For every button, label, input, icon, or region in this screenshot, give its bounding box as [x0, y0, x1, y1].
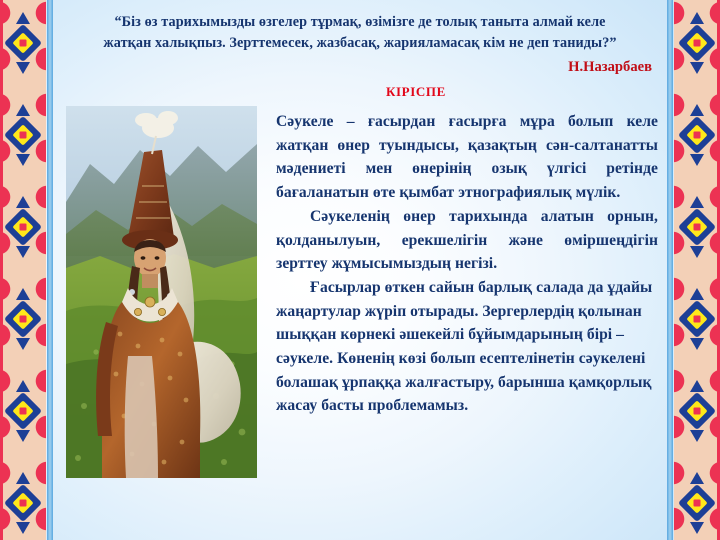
band-separator-stripe-right [667, 0, 673, 540]
presentation-slide: “Біз өз тарихымызды өзгелер тұрмақ, өзім… [0, 0, 720, 540]
ornament-diamond-icon [678, 10, 716, 76]
ornament-band-left [0, 0, 46, 540]
epigraph-quote: “Біз өз тарихымызды өзгелер тұрмақ, өзім… [62, 12, 658, 76]
ornament-diamond-motifs [0, 0, 46, 540]
quote-line-2: жатқан халықпыз. Зерттемесек, жазбасақ, … [62, 33, 658, 54]
ornament-diamond-motifs [674, 0, 720, 540]
slide-content: “Біз өз тарихымызды өзгелер тұрмақ, өзім… [56, 0, 664, 540]
ornament-diamond-icon [4, 102, 42, 168]
saukele-photo [66, 106, 257, 478]
body-paragraph: Сәукеленің өнер тарихында алатын орнын, … [276, 205, 658, 276]
ornament-diamond-icon [678, 286, 716, 352]
ornament-diamond-icon [4, 378, 42, 444]
band-separator-stripe-left [47, 0, 53, 540]
ornament-diamond-icon [4, 286, 42, 352]
ornament-diamond-icon [4, 194, 42, 260]
ornament-diamond-icon [678, 102, 716, 168]
section-heading: КІРІСПЕ [386, 84, 446, 100]
body-text-column: Сәукеле – ғасырдан ғасырға мұра болып ке… [276, 110, 658, 418]
ornament-diamond-icon [4, 470, 42, 536]
ornament-diamond-icon [678, 194, 716, 260]
body-paragraph: Ғасырлар өткен сайын барлық салада да ұд… [276, 276, 658, 418]
quote-line-1: “Біз өз тарихымызды өзгелер тұрмақ, өзім… [62, 12, 658, 33]
ornament-band-right [674, 0, 720, 540]
body-paragraph: Сәукеле – ғасырдан ғасырға мұра болып ке… [276, 110, 658, 205]
saukele-photo-image [66, 106, 257, 478]
ornament-diamond-icon [4, 10, 42, 76]
ornament-diamond-icon [678, 378, 716, 444]
ornament-diamond-icon [678, 470, 716, 536]
quote-author: Н.Назарбаев [62, 59, 658, 76]
